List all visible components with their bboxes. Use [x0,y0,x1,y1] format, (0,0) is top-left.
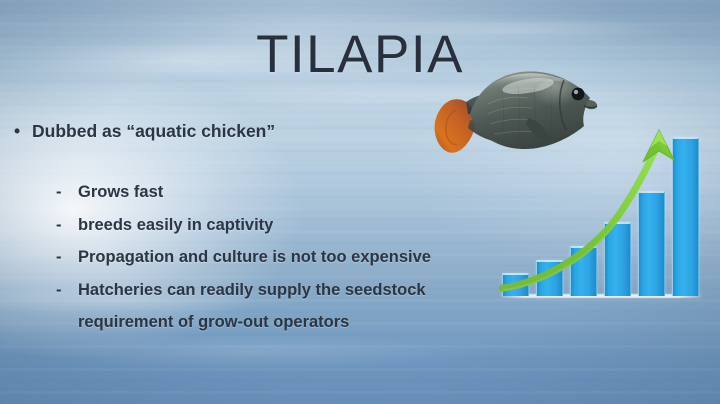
fish-eye [572,88,585,101]
slide-title: TILAPIA [0,28,720,81]
sub-bullet-item-1: -Grows fast [56,183,431,202]
sub-bullet-item-3: -Propagation and culture is not too expe… [56,248,431,267]
chart-bar [502,273,529,296]
bullet-dot-icon: • [14,121,32,142]
dash-bullet-icon: - [56,281,78,300]
sub-bullet-label-4: Hatcheries can readily supply the seedst… [78,281,426,299]
dash-bullet-icon: - [56,183,78,202]
chart-bar [604,222,631,296]
dash-bullet-icon: - [56,216,78,235]
sub-bullet-list: -Grows fast -breeds easily in captivity … [56,183,431,313]
main-bullet-item: •Dubbed as “aquatic chicken” [14,121,275,142]
presentation-slide: TILAPIA •Dubbed as “aquatic chicken” -Gr… [0,0,720,404]
sub-bullet-item-2: -breeds easily in captivity [56,216,431,235]
chart-bar [536,260,563,296]
main-bullet-label: Dubbed as “aquatic chicken” [32,121,275,141]
sub-bullet-label-1: Grows fast [78,183,163,201]
chart-bar [672,137,699,296]
sub-bullet-item-4: -Hatcheries can readily supply the seeds… [56,281,431,300]
chart-bar [570,246,597,296]
chart-bar [638,191,665,296]
sub-bullet-continuation-line: requirement of grow-out operators [78,313,349,332]
sub-bullet-label-3: Propagation and culture is not too expen… [78,248,431,266]
dash-bullet-icon: - [56,248,78,267]
sub-bullet-label-2: breeds easily in captivity [78,216,273,234]
tilapia-fish-photo [432,56,600,168]
